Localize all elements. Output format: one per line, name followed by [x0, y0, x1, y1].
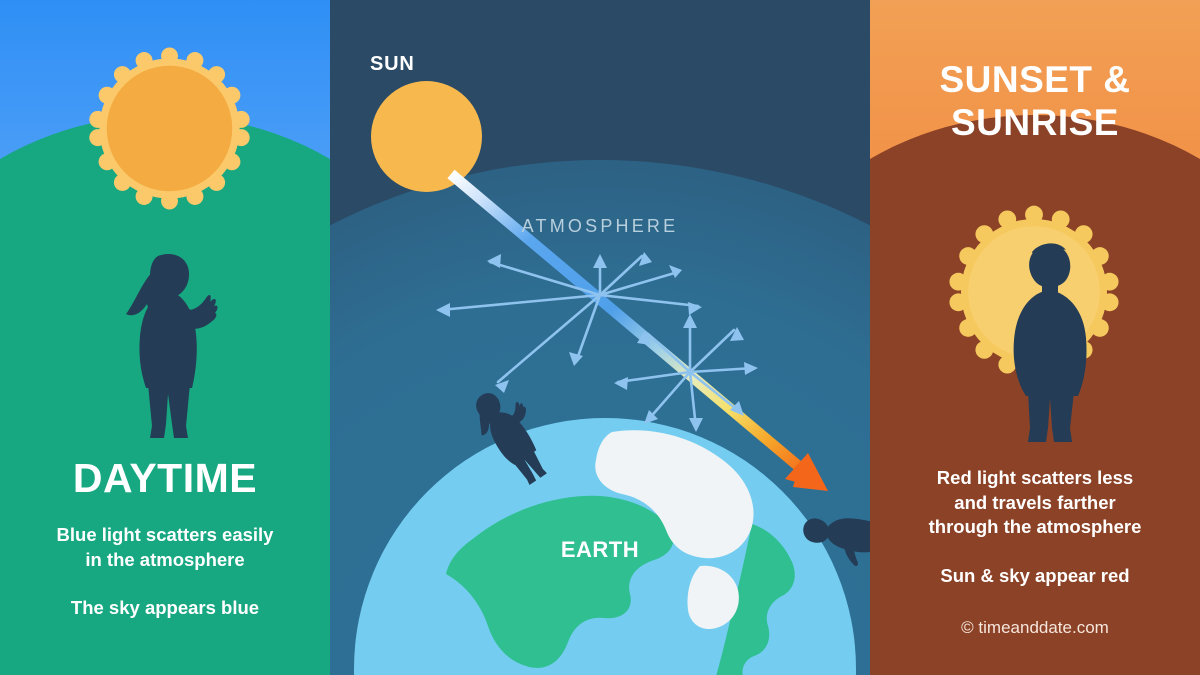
person-looking-up-icon — [112, 248, 232, 438]
sunset-title: SUNSET & SUNRISE — [870, 58, 1200, 145]
daytime-conclusion: The sky appears blue — [0, 596, 330, 621]
sunlight-beam-arrow-icon — [330, 0, 870, 675]
daytime-text-block: DAYTIME Blue light scatters easily in th… — [0, 458, 330, 621]
sunset-line-1: Red light scatters less — [870, 466, 1200, 491]
sunset-line-3: through the atmosphere — [870, 515, 1200, 540]
sunset-title-line-1: SUNSET & — [870, 58, 1200, 101]
daytime-panel: DAYTIME Blue light scatters easily in th… — [0, 0, 330, 675]
person-standing-icon — [988, 238, 1108, 448]
daytime-line-1: Blue light scatters easily — [0, 523, 330, 548]
scattering-diagram-panel: SUN — [330, 0, 870, 675]
sunset-conclusion: Sun & sky appear red — [870, 564, 1200, 589]
credit-label: © timeanddate.com — [870, 618, 1200, 638]
sunset-line-2: and travels farther — [870, 491, 1200, 516]
daytime-line-2: in the atmosphere — [0, 548, 330, 573]
sunset-title-line-2: SUNRISE — [870, 101, 1200, 144]
sunset-sunrise-panel: SUNSET & SUNRISE — [870, 0, 1200, 675]
infographic-canvas: DAYTIME Blue light scatters easily in th… — [0, 0, 1200, 675]
daytime-title: DAYTIME — [0, 458, 330, 499]
sunset-text-block: Red light scatters less and travels fart… — [870, 466, 1200, 588]
atmosphere-label: ATMOSPHERE — [330, 216, 870, 237]
sun-icon — [88, 47, 251, 210]
